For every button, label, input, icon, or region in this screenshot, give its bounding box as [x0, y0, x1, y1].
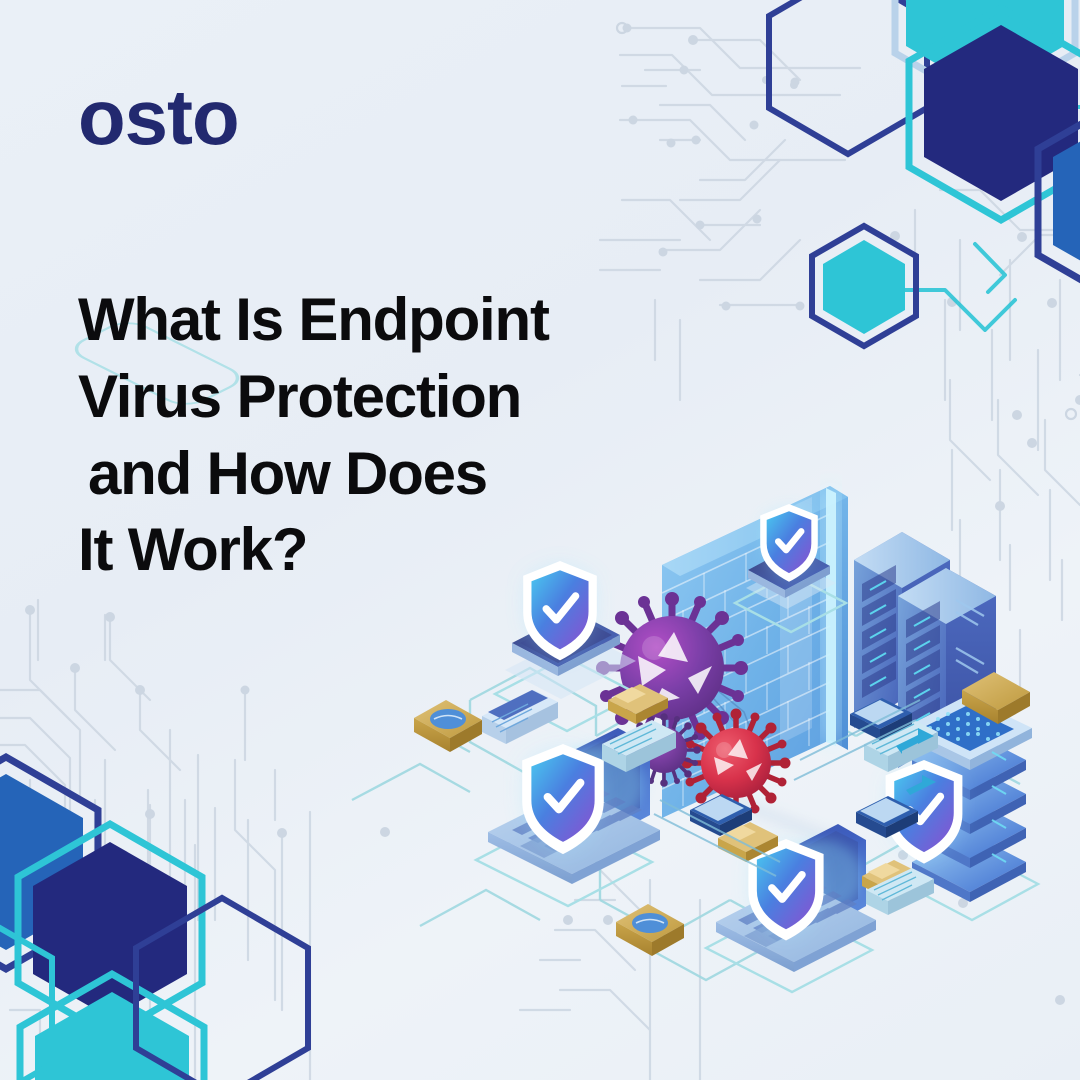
- headline-line-3: and How Does: [78, 436, 698, 513]
- headline-line-2: Virus Protection: [78, 359, 698, 436]
- poster-canvas: osto What Is Endpoint Virus Protection a…: [0, 0, 1080, 1080]
- headline-line-1: What Is Endpoint: [78, 282, 698, 359]
- headline-line-4: It Work?: [78, 512, 698, 589]
- page-title: What Is Endpoint Virus Protection and Ho…: [78, 282, 698, 589]
- brand-logo[interactable]: osto: [78, 78, 239, 156]
